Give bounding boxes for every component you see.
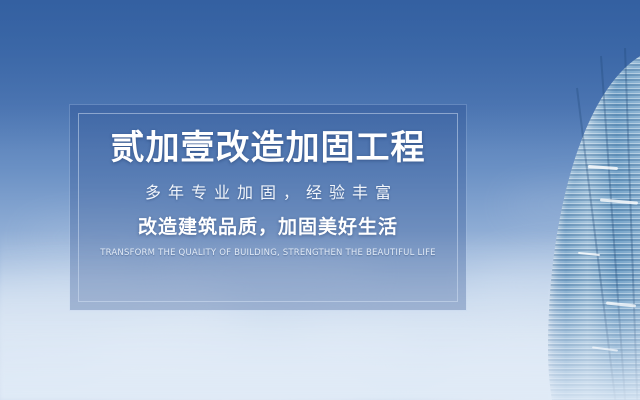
hero-subtitle-cn: 多年专业加固，经验丰富 [138, 185, 398, 201]
hero-text-panel: 贰加壹改造加固工程 多年专业加固，经验丰富 改造建筑品质，加固美好生活 TRAN… [70, 105, 466, 310]
skyscraper-building [548, 48, 640, 400]
hero-content: 贰加壹改造加固工程 多年专业加固，经验丰富 改造建筑品质，加固美好生活 TRAN… [70, 105, 466, 310]
hero-slogan-en: TRANSFORM THE QUALITY OF BUILDING, STREN… [100, 249, 436, 258]
building-base-haze [548, 280, 640, 400]
hero-slogan-cn: 改造建筑品质，加固美好生活 [138, 218, 398, 237]
page-title: 贰加壹改造加固工程 [111, 131, 426, 165]
banner-hero-image: 贰加壹改造加固工程 多年专业加固，经验丰富 改造建筑品质，加固美好生活 TRAN… [0, 0, 640, 400]
